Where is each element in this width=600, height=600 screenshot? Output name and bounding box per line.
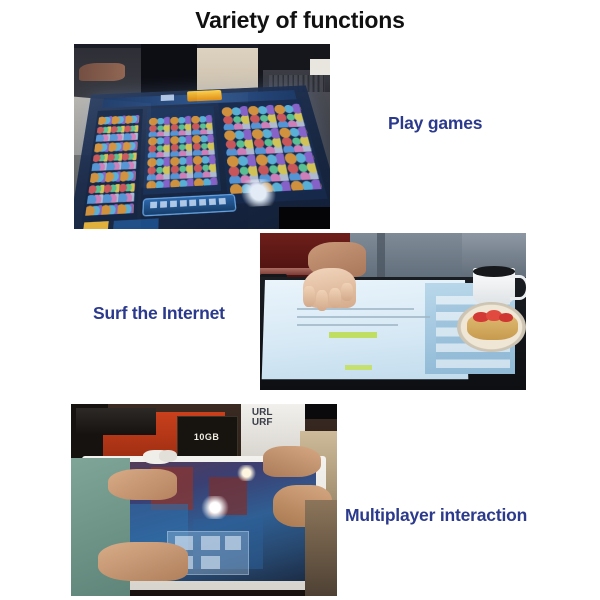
screen-glare bbox=[236, 179, 282, 207]
poster-root: Variety of functions bbox=[0, 0, 600, 600]
photo-multiplayer-interaction: 10GB URL URF bbox=[71, 404, 337, 596]
photo-play-games bbox=[74, 44, 330, 229]
strawberry bbox=[499, 313, 512, 322]
photo-surf-the-internet-content bbox=[260, 233, 526, 390]
screen-ui-tile bbox=[225, 536, 241, 549]
screen-ui-tile bbox=[201, 536, 220, 549]
photo-play-games-content bbox=[74, 44, 330, 229]
game-tab-yellow bbox=[82, 221, 108, 229]
screen-glare bbox=[199, 496, 231, 519]
game-icon-grid-center bbox=[146, 115, 218, 188]
shirt-print-label: URL URF bbox=[252, 408, 295, 439]
webpage-highlight bbox=[345, 365, 372, 370]
person-right bbox=[305, 500, 337, 596]
caption-play-games: Play games bbox=[388, 113, 482, 134]
dark-panel-mid bbox=[141, 44, 197, 96]
finger bbox=[329, 288, 341, 308]
white-device-on-table bbox=[159, 450, 178, 462]
webpage-text-line bbox=[297, 308, 414, 310]
person-arm bbox=[79, 63, 125, 82]
screen-ui-tile bbox=[201, 556, 220, 569]
mug-handle bbox=[510, 275, 526, 300]
game-score bbox=[160, 95, 173, 101]
caption-multiplayer-interaction: Multiplayer interaction bbox=[345, 505, 527, 526]
photo-surf-the-internet bbox=[260, 233, 526, 390]
finger bbox=[303, 286, 315, 306]
coffee-surface bbox=[473, 266, 516, 277]
booth-sign-label: 10GB bbox=[180, 433, 233, 448]
photo-multiplayer-interaction-content: 10GB URL URF bbox=[71, 404, 337, 596]
game-tab-blue bbox=[113, 218, 158, 229]
webpage-text-line bbox=[297, 324, 398, 326]
page-title: Variety of functions bbox=[0, 7, 600, 34]
webpage-highlight bbox=[329, 332, 377, 338]
background-keyboard bbox=[76, 408, 156, 435]
white-object bbox=[310, 59, 330, 76]
hand-on-table bbox=[108, 469, 177, 500]
hand-on-table bbox=[98, 542, 188, 580]
hand-on-table bbox=[263, 446, 322, 477]
screen-glare bbox=[236, 465, 257, 480]
finger bbox=[341, 283, 353, 300]
foreground-shadow bbox=[279, 207, 330, 229]
finger bbox=[316, 290, 328, 312]
webpage-text-line bbox=[297, 316, 430, 318]
game-icon-grid-left bbox=[85, 114, 140, 216]
caption-surf-the-internet: Surf the Internet bbox=[93, 303, 225, 324]
